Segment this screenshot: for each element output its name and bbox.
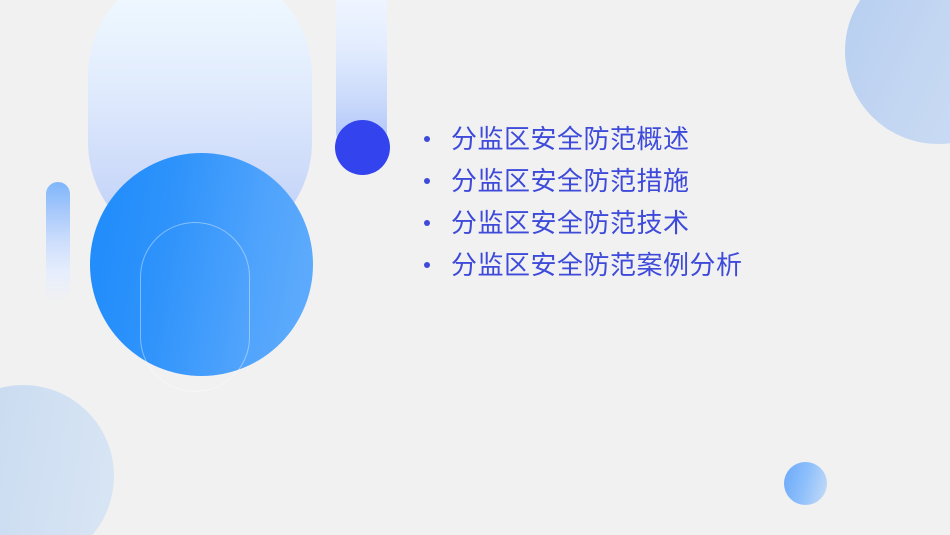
bullet-dot-icon [424, 178, 430, 184]
bullet-label: 分监区安全防范技术 [451, 210, 690, 236]
list-item[interactable]: 分监区安全防范措施 [424, 160, 894, 202]
decorative-circle-bottom-left [0, 385, 114, 535]
decorative-capsule-outline [140, 222, 250, 392]
list-item[interactable]: 分监区安全防范案例分析 [424, 244, 894, 286]
bullet-label: 分监区安全防范案例分析 [451, 252, 743, 278]
bullet-dot-icon [424, 220, 430, 226]
agenda-bullet-list: 分监区安全防范概述 分监区安全防范措施 分监区安全防范技术 分监区安全防范案例分… [424, 118, 894, 286]
presentation-slide: 分监区安全防范概述 分监区安全防范措施 分监区安全防范技术 分监区安全防范案例分… [0, 0, 950, 535]
bullet-dot-icon [424, 136, 430, 142]
bullet-label: 分监区安全防范措施 [451, 168, 690, 194]
bullet-label: 分监区安全防范概述 [451, 126, 690, 152]
bullet-dot-icon [424, 262, 430, 268]
list-item[interactable]: 分监区安全防范概述 [424, 118, 894, 160]
decorative-circle-indigo [335, 120, 390, 175]
decorative-circle-small [784, 462, 827, 505]
decorative-capsule-small [46, 182, 70, 302]
list-item[interactable]: 分监区安全防范技术 [424, 202, 894, 244]
